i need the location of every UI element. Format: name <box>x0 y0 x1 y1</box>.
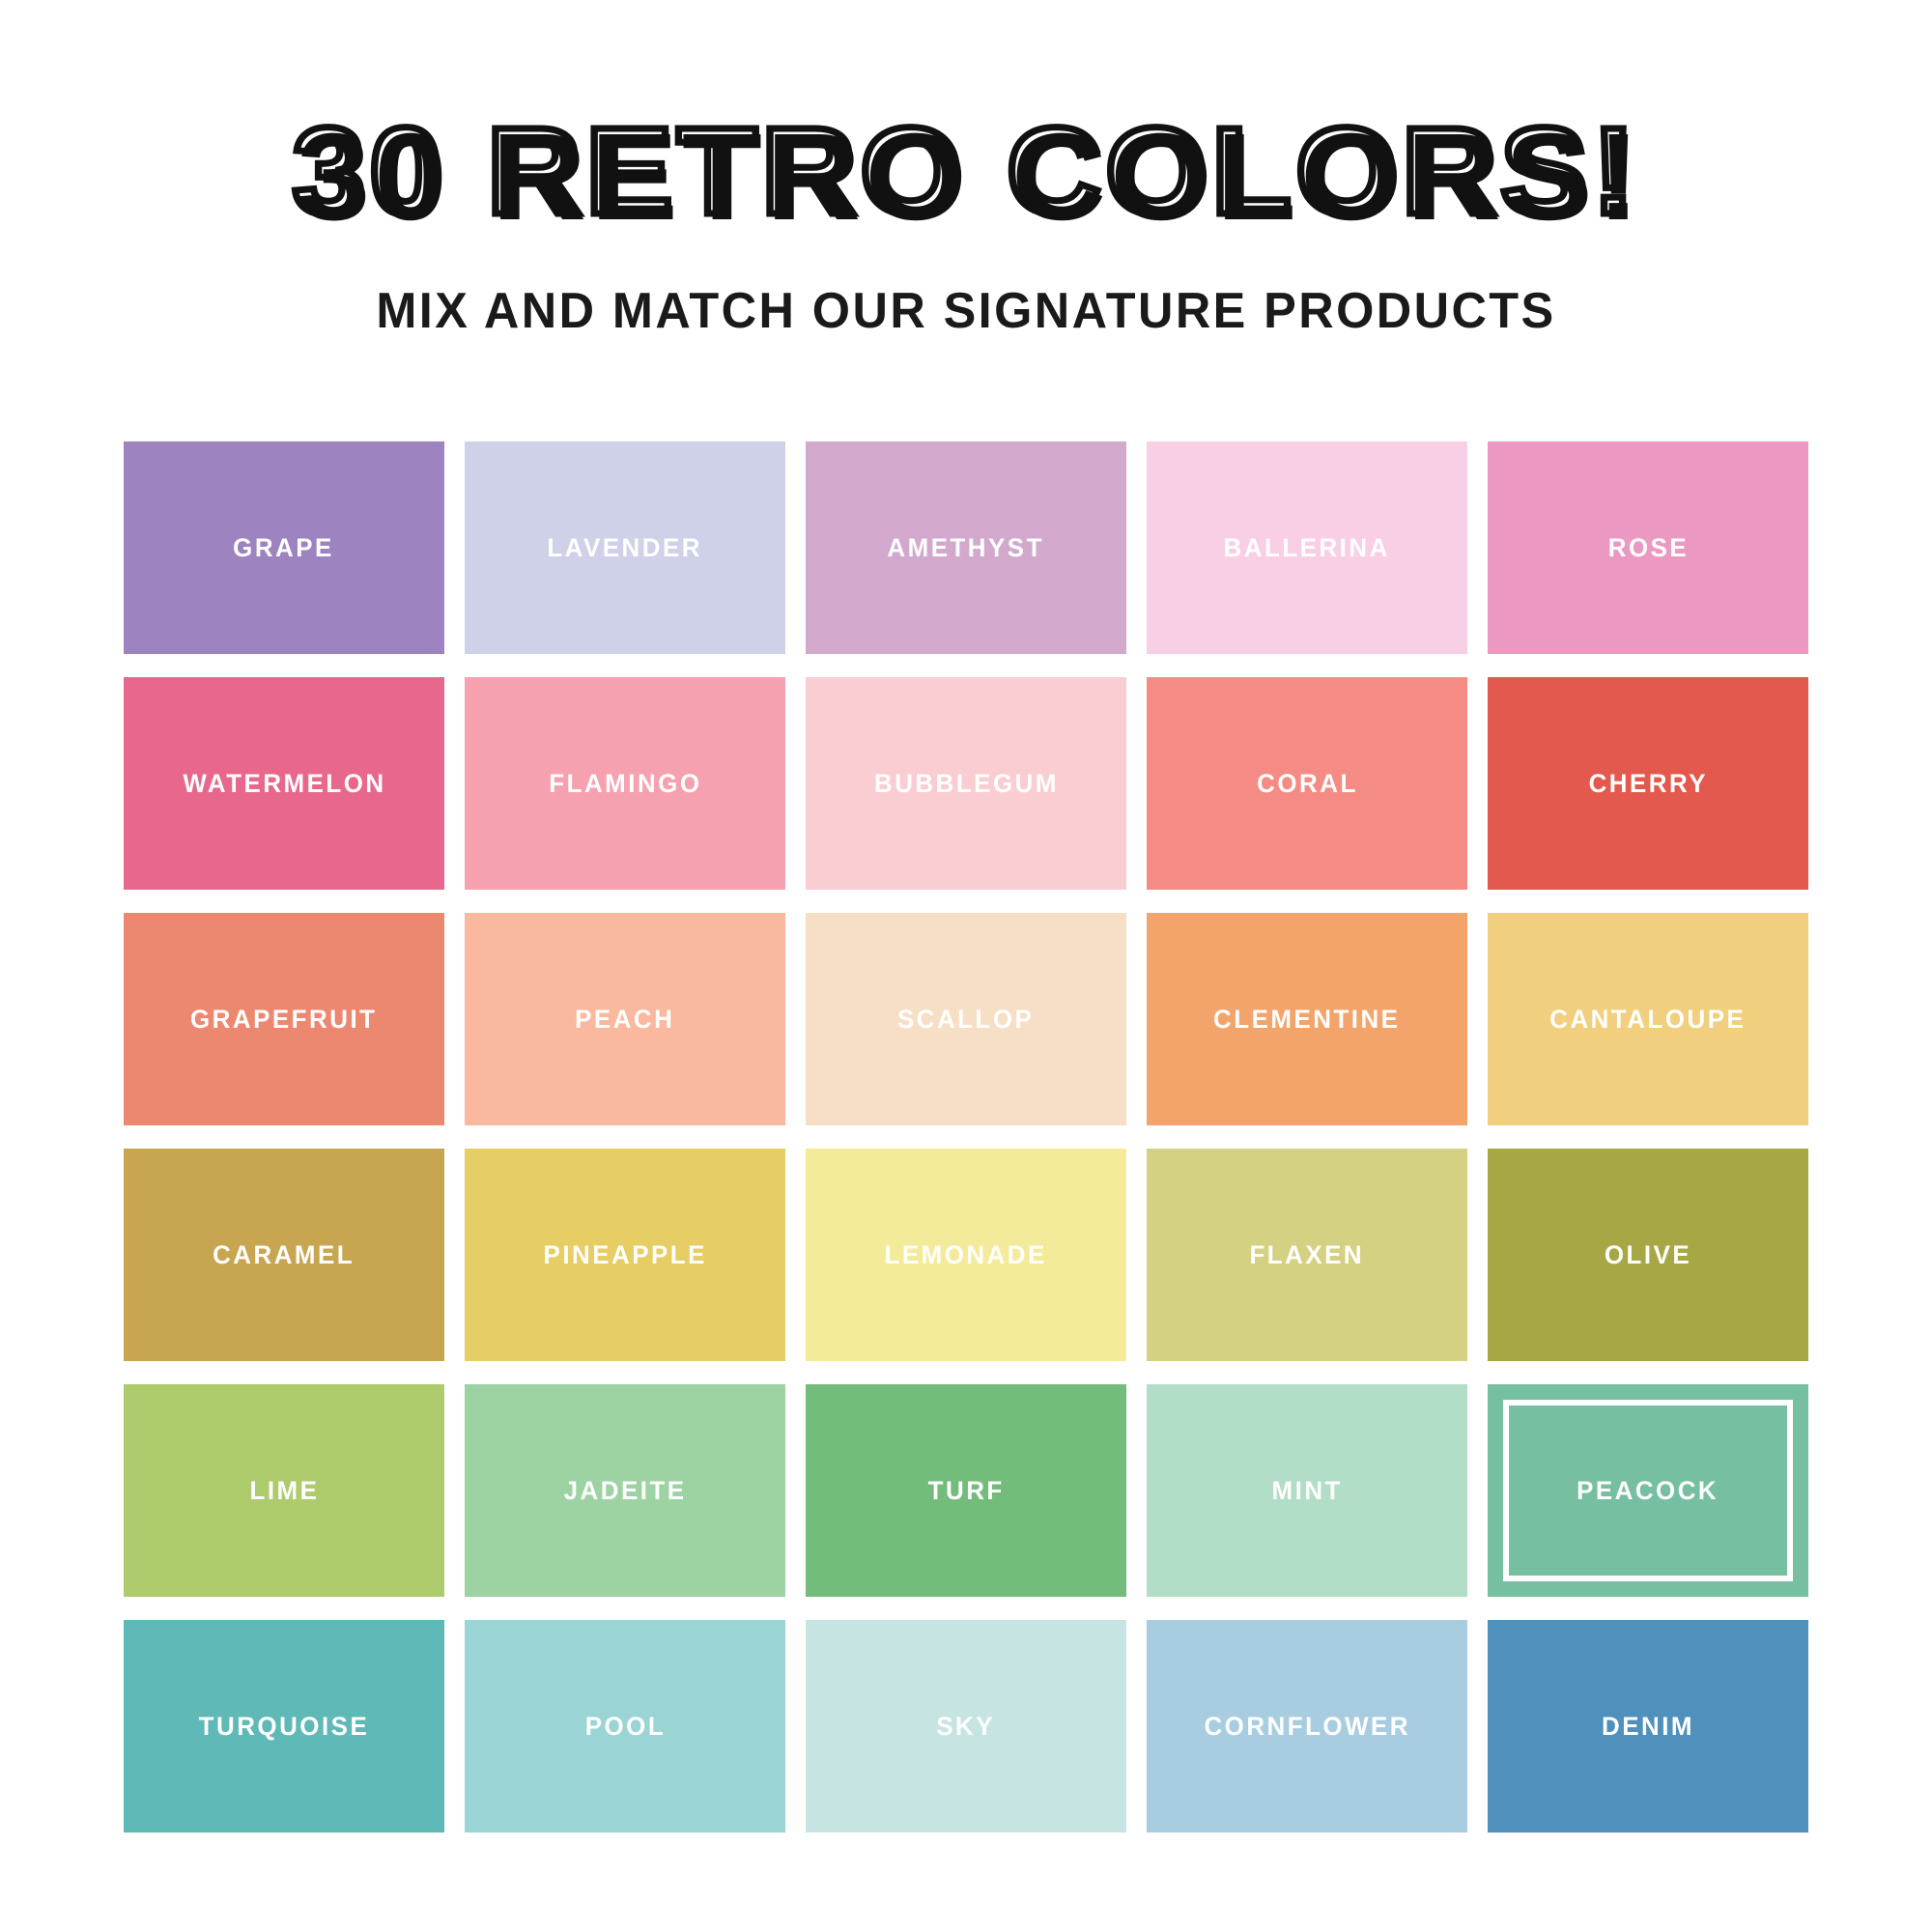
poster-header: 30 RETRO COLORS! 30 RETRO COLORS! MIX AN… <box>0 0 1932 340</box>
color-swatch[interactable]: OLIVE <box>1488 1149 1808 1361</box>
swatch-label: CORAL <box>1257 769 1358 799</box>
swatch-label: GRAPE <box>234 533 335 563</box>
swatch-label: CANTALOUPE <box>1549 1005 1746 1035</box>
color-swatch[interactable]: TURF <box>806 1384 1126 1597</box>
color-swatch[interactable]: AMETHYST <box>806 441 1126 654</box>
color-swatch[interactable]: TURQUOISE <box>124 1620 444 1833</box>
color-swatch-grid: GRAPELAVENDERAMETHYSTBALLERINAROSEWATERM… <box>124 441 1808 1833</box>
color-swatch[interactable]: SKY <box>806 1620 1126 1833</box>
swatch-label: LAVENDER <box>548 533 703 563</box>
swatch-label: ROSE <box>1607 533 1688 563</box>
swatch-label: TURF <box>927 1476 1004 1506</box>
swatch-label: WATERMELON <box>183 769 385 799</box>
color-swatch[interactable]: CARAMEL <box>124 1149 444 1361</box>
swatch-label: MINT <box>1271 1476 1342 1506</box>
swatch-label: PEACH <box>575 1005 674 1035</box>
color-swatch[interactable]: DENIM <box>1488 1620 1808 1833</box>
color-swatch[interactable]: LEMONADE <box>806 1149 1126 1361</box>
swatch-label: CORNFLOWER <box>1204 1712 1410 1742</box>
swatch-label: DENIM <box>1602 1712 1694 1742</box>
color-swatch[interactable]: JADEITE <box>465 1384 785 1597</box>
color-palette-poster: 30 RETRO COLORS! 30 RETRO COLORS! MIX AN… <box>0 0 1932 1932</box>
swatch-label: JADEITE <box>564 1476 687 1506</box>
color-swatch[interactable]: CORNFLOWER <box>1147 1620 1467 1833</box>
color-swatch[interactable]: BUBBLEGUM <box>806 677 1126 890</box>
color-swatch[interactable]: PEACH <box>465 913 785 1125</box>
color-swatch[interactable]: GRAPE <box>124 441 444 654</box>
swatch-label: SKY <box>937 1712 996 1742</box>
swatch-label: CLEMENTINE <box>1213 1005 1400 1035</box>
color-swatch[interactable]: MINT <box>1147 1384 1467 1597</box>
page-subtitle: MIX AND MATCH OUR SIGNATURE PRODUCTS <box>29 282 1903 340</box>
color-swatch[interactable]: PEACOCK <box>1488 1384 1808 1597</box>
swatch-label: PINEAPPLE <box>543 1240 706 1270</box>
color-swatch[interactable]: POOL <box>465 1620 785 1833</box>
color-swatch[interactable]: GRAPEFRUIT <box>124 913 444 1125</box>
color-swatch[interactable]: CANTALOUPE <box>1488 913 1808 1125</box>
swatch-label: CHERRY <box>1588 769 1707 799</box>
color-swatch[interactable]: CHERRY <box>1488 677 1808 890</box>
color-swatch[interactable]: CLEMENTINE <box>1147 913 1467 1125</box>
swatch-label: POOL <box>584 1712 665 1742</box>
swatch-label: TURQUOISE <box>199 1712 370 1742</box>
color-swatch[interactable]: PINEAPPLE <box>465 1149 785 1361</box>
color-swatch[interactable]: LIME <box>124 1384 444 1597</box>
swatch-label: GRAPEFRUIT <box>190 1005 377 1035</box>
swatch-label: SCALLOP <box>897 1005 1034 1035</box>
swatch-label: FLAMINGO <box>549 769 701 799</box>
swatch-label: CARAMEL <box>213 1240 355 1270</box>
swatch-label: PEACOCK <box>1577 1476 1719 1506</box>
swatch-label: AMETHYST <box>888 533 1045 563</box>
swatch-label: LEMONADE <box>885 1240 1047 1270</box>
swatch-label: BALLERINA <box>1224 533 1390 563</box>
swatch-label: OLIVE <box>1605 1240 1691 1270</box>
color-swatch[interactable]: FLAXEN <box>1147 1149 1467 1361</box>
color-swatch[interactable]: CORAL <box>1147 677 1467 890</box>
swatch-label: BUBBLEGUM <box>874 769 1059 799</box>
page-title-text: 30 RETRO COLORS! <box>293 110 1640 234</box>
swatch-label: FLAXEN <box>1250 1240 1365 1270</box>
swatch-label: LIME <box>249 1476 319 1506</box>
color-swatch[interactable]: FLAMINGO <box>465 677 785 890</box>
color-swatch[interactable]: BALLERINA <box>1147 441 1467 654</box>
color-swatch[interactable]: SCALLOP <box>806 913 1126 1125</box>
color-swatch[interactable]: ROSE <box>1488 441 1808 654</box>
page-title: 30 RETRO COLORS! 30 RETRO COLORS! <box>0 104 1932 240</box>
color-swatch[interactable]: LAVENDER <box>465 441 785 654</box>
color-swatch[interactable]: WATERMELON <box>124 677 444 890</box>
